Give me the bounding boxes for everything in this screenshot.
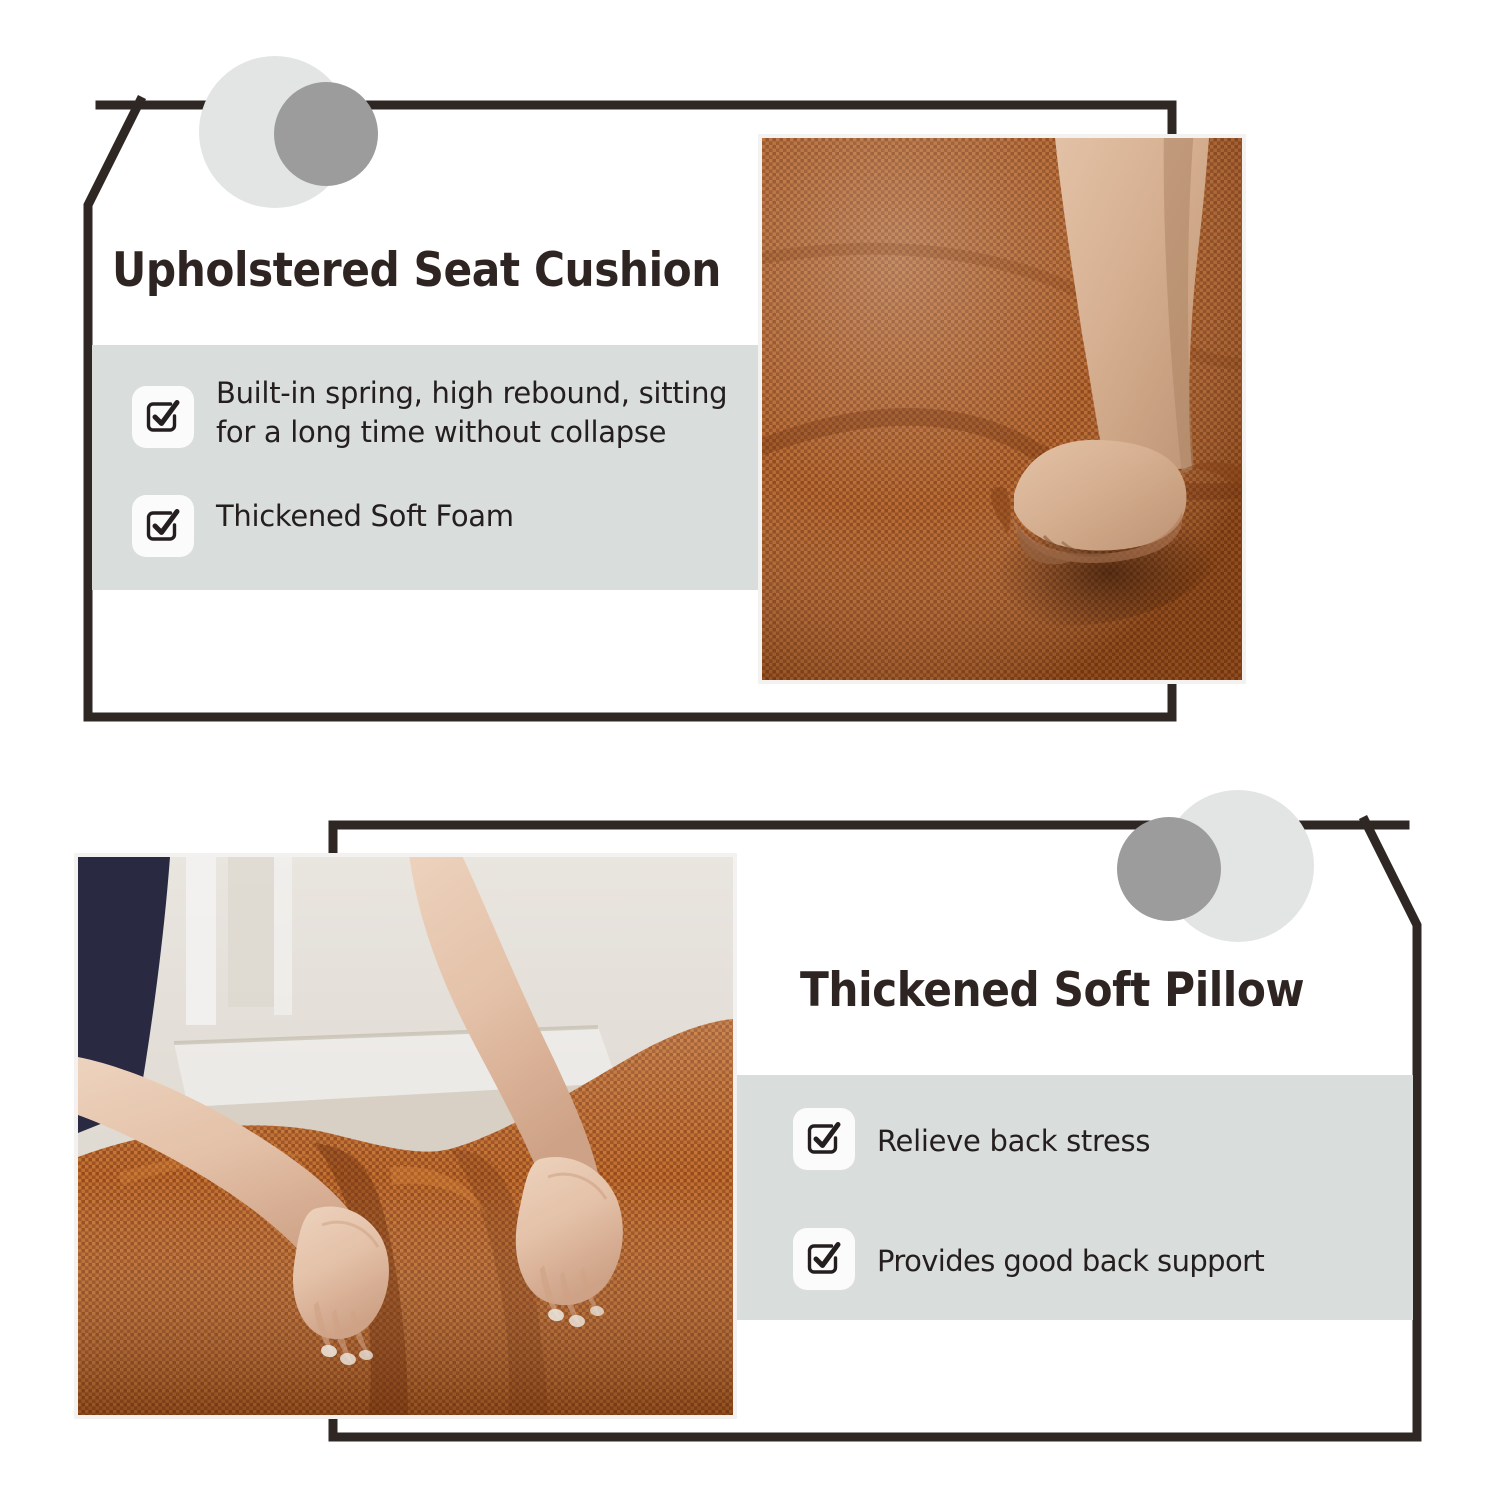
checkbox-checked-icon xyxy=(132,495,194,557)
top-decorative-circles xyxy=(199,56,389,206)
circle-dark-small xyxy=(274,82,378,186)
infographic-page: Upholstered Seat Cushion Built-in spring… xyxy=(0,0,1500,1500)
soft-pillow-press-photo xyxy=(78,857,733,1415)
bottom-decorative-circles xyxy=(1117,790,1317,945)
seat-cushion-press-photo xyxy=(762,138,1242,680)
section-heading-seat-cushion: Upholstered Seat Cushion xyxy=(112,243,721,298)
feature-row-back-support: Provides good back support xyxy=(793,1228,1433,1290)
checkbox-checked-icon xyxy=(793,1228,855,1290)
feature-row-thickened-soft-foam: Thickened Soft Foam xyxy=(132,495,752,557)
feature-row-built-in-spring: Built-in spring, high rebound, sitting f… xyxy=(132,372,752,451)
checkbox-checked-icon xyxy=(793,1108,855,1170)
circle-dark-small xyxy=(1117,817,1221,921)
checkbox-checked-icon xyxy=(132,386,194,448)
section-heading-soft-pillow: Thickened Soft Pillow xyxy=(800,963,1304,1018)
feature-text-built-in-spring: Built-in spring, high rebound, sitting f… xyxy=(216,372,752,451)
feature-row-relieve-back-stress: Relieve back stress xyxy=(793,1108,1413,1170)
feature-text-thickened-soft-foam: Thickened Soft Foam xyxy=(216,495,514,536)
feature-text-relieve-back-stress: Relieve back stress xyxy=(877,1108,1150,1161)
feature-text-back-support: Provides good back support xyxy=(877,1228,1264,1281)
